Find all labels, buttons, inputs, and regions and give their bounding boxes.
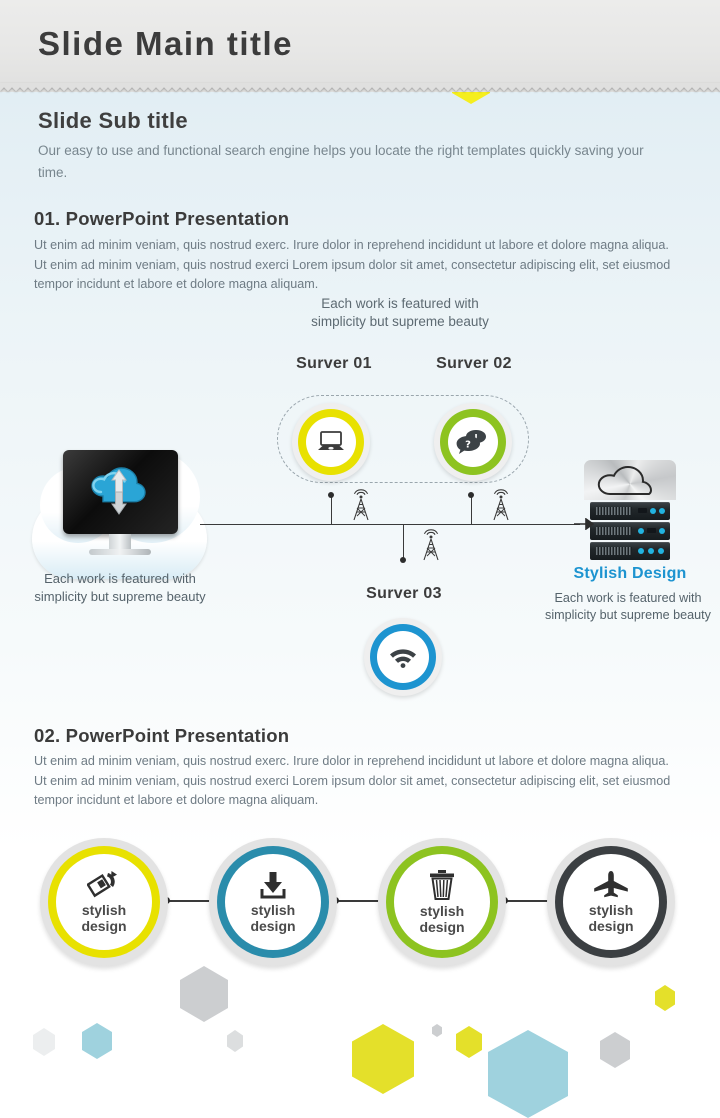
rack-led bbox=[659, 508, 665, 514]
rack-led bbox=[638, 548, 644, 554]
decor-hexagon-yellow-large-bottom bbox=[352, 1024, 414, 1094]
main-connection-line bbox=[200, 524, 580, 525]
section-01-title: 01. PowerPoint Presentation bbox=[34, 208, 289, 230]
process-step-4[interactable]: stylishdesign bbox=[547, 838, 675, 966]
branch-dot-1 bbox=[328, 492, 334, 498]
svg-text:?: ? bbox=[465, 440, 471, 451]
download-icon bbox=[257, 870, 289, 900]
cloud-sync-icon bbox=[79, 462, 163, 520]
server-rack bbox=[584, 460, 676, 558]
laptop-icon bbox=[316, 430, 346, 454]
branch-dot-3 bbox=[400, 557, 406, 563]
target-caption: Each work is featured with simplicity bu… bbox=[528, 590, 720, 624]
cloud-monitor bbox=[63, 450, 178, 534]
diagram-top-caption: Each work is featured with simplicity bu… bbox=[300, 295, 500, 331]
process-steps: stylishdesign stylishdesign bbox=[0, 838, 720, 968]
process-step-1-label: stylishdesign bbox=[81, 903, 126, 934]
rotate-icon bbox=[87, 870, 121, 900]
monitor-neck bbox=[109, 534, 131, 550]
page-title: Slide Main title bbox=[38, 25, 293, 63]
laptop-node[interactable] bbox=[292, 403, 370, 481]
process-step-2[interactable]: stylishdesign bbox=[209, 838, 337, 966]
process-step-3[interactable]: stylishdesign bbox=[378, 838, 506, 966]
cloud-outline-icon bbox=[592, 464, 668, 498]
server-02-label: Surver 02 bbox=[388, 355, 560, 373]
target-title: Stylish Design bbox=[530, 565, 720, 583]
speech-bubbles-icon: ! ? bbox=[456, 428, 490, 456]
rack-led bbox=[659, 528, 665, 534]
branch-line-2 bbox=[471, 495, 472, 525]
monitor-foot bbox=[89, 549, 151, 555]
decor-hexagon-gray-large bbox=[180, 966, 228, 1022]
decor-hexagon-blue-large-bottom bbox=[488, 1030, 568, 1118]
section-02-body: Ut enim ad minim veniam, quis nostrud ex… bbox=[34, 752, 674, 811]
rack-led bbox=[647, 528, 656, 533]
rack-unit-1 bbox=[590, 502, 670, 520]
process-step-1[interactable]: stylishdesign bbox=[40, 838, 168, 966]
process-step-3-label: stylishdesign bbox=[419, 904, 464, 935]
section-01-body: Ut enim ad minim veniam, quis nostrud ex… bbox=[34, 236, 674, 295]
rack-vent bbox=[596, 547, 632, 555]
trash-icon bbox=[427, 869, 457, 901]
rack-unit-2 bbox=[590, 522, 670, 540]
rack-led bbox=[648, 548, 654, 554]
rack-led bbox=[638, 508, 647, 513]
slide-sub-description: Our easy to use and functional search en… bbox=[38, 140, 658, 185]
decor-hexagon-gray-small bbox=[227, 1030, 243, 1052]
rack-unit-3 bbox=[590, 542, 670, 560]
radio-tower-icon bbox=[418, 529, 444, 563]
wifi-node[interactable] bbox=[364, 618, 442, 696]
process-step-2-label: stylishdesign bbox=[250, 903, 295, 934]
branch-line-3 bbox=[403, 524, 404, 560]
decor-hexagon-gray-tiny bbox=[432, 1024, 442, 1037]
rack-vent bbox=[596, 527, 632, 535]
rack-led bbox=[658, 548, 664, 554]
arrow-head-icon bbox=[574, 518, 594, 530]
source-caption: Each work is featured with simplicity bu… bbox=[25, 570, 215, 605]
rack-vent bbox=[596, 507, 632, 515]
network-diagram: Each work is featured with simplicity bu… bbox=[0, 295, 720, 715]
radio-tower-icon bbox=[488, 489, 514, 523]
decor-hexagon-white bbox=[33, 1028, 55, 1056]
radio-tower-icon bbox=[348, 489, 374, 523]
branch-dot-2 bbox=[468, 492, 474, 498]
wifi-icon bbox=[387, 645, 419, 669]
decor-hexagon-gray-bottom-right bbox=[600, 1032, 630, 1068]
torn-edge-divider bbox=[0, 83, 720, 95]
slide-sub-title: Slide Sub title bbox=[38, 108, 188, 134]
branch-line-1 bbox=[331, 495, 332, 525]
airplane-icon bbox=[592, 870, 630, 900]
slide-header: Slide Main title bbox=[0, 0, 720, 92]
server-03-label: Surver 03 bbox=[318, 585, 490, 603]
section-02-title: 02. PowerPoint Presentation bbox=[34, 725, 289, 747]
rack-led bbox=[638, 528, 644, 534]
decor-hexagon-blue-bottom bbox=[82, 1023, 112, 1059]
rack-cloud-top bbox=[584, 460, 676, 500]
faq-node[interactable]: ! ? bbox=[434, 403, 512, 481]
decor-hexagon-yellow-bottom bbox=[456, 1026, 482, 1058]
rack-led bbox=[650, 508, 656, 514]
decor-hexagon-yellow-small bbox=[655, 985, 675, 1011]
process-step-4-label: stylishdesign bbox=[588, 903, 633, 934]
